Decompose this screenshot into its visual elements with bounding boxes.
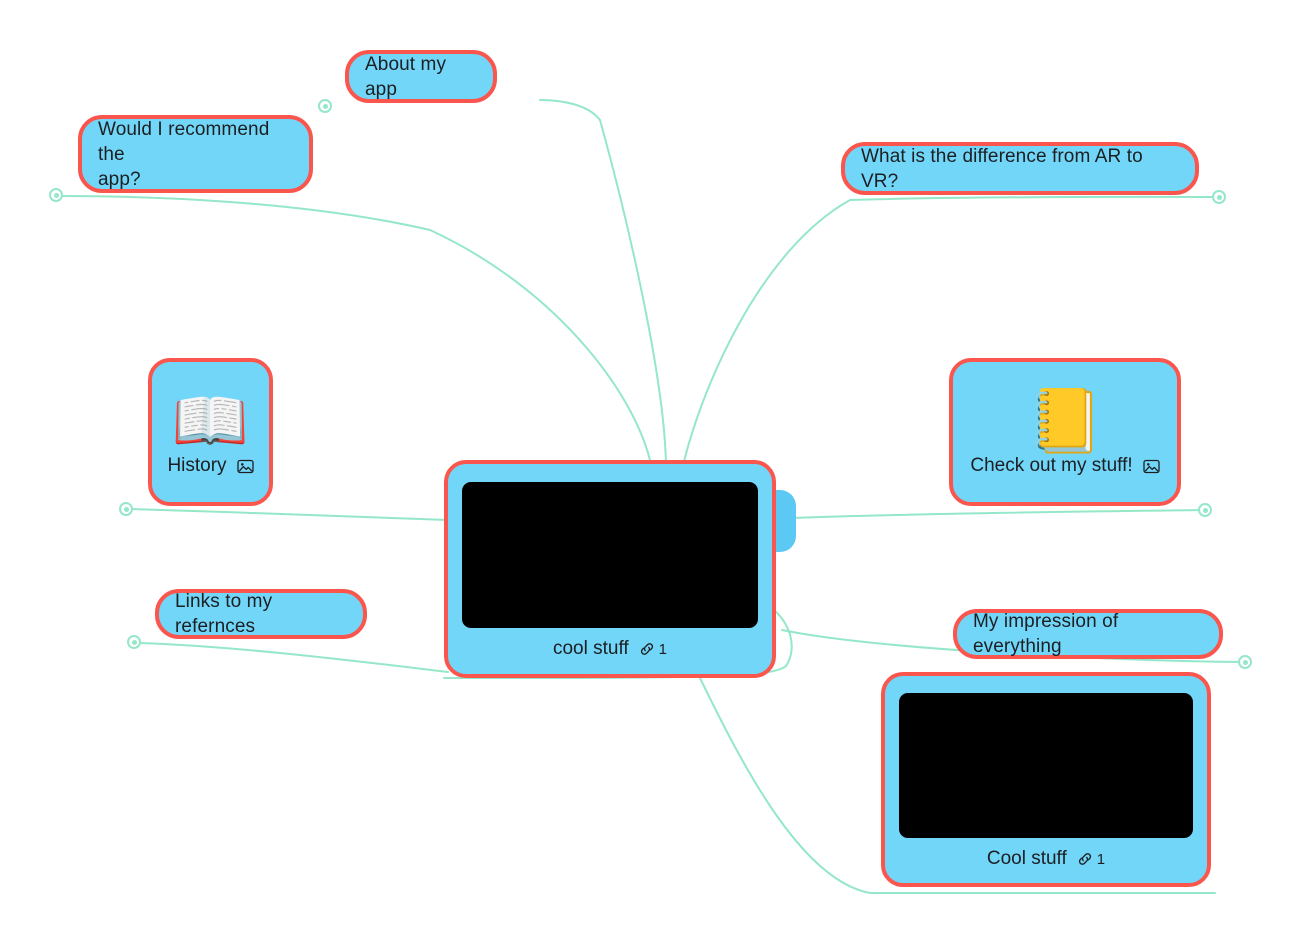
node-links-to-my-refernces[interactable]: Links to my refernces [155, 589, 367, 639]
node-ar-vr[interactable]: What is the difference from AR to VR? [841, 142, 1199, 195]
open-book-icon: 📖 [172, 389, 249, 455]
node-footer: Cool stuff 1 [899, 838, 1193, 872]
node-my-impression[interactable]: My impression of everything [953, 609, 1223, 659]
link-icon [639, 641, 655, 657]
video-thumbnail[interactable] [462, 482, 758, 628]
node-cool-stuff-media[interactable]: Cool stuff 1 [881, 672, 1211, 887]
node-center-cool-stuff[interactable]: cool stuff 1 [444, 460, 776, 678]
node-would-i-recommend[interactable]: Would I recommend the app? [78, 115, 313, 193]
link-count: 1 [1097, 851, 1105, 868]
link-badge: 1 [639, 641, 667, 658]
handle-check-out-my-stuff[interactable] [1198, 503, 1212, 517]
node-label: What is the difference from AR to VR? [861, 144, 1179, 194]
node-label: Cool stuff [987, 848, 1067, 870]
node-footer: Check out my stuff! [970, 455, 1159, 477]
handle-about-my-app[interactable] [318, 99, 332, 113]
node-label: My impression of everything [973, 609, 1203, 659]
node-label: Links to my refernces [175, 589, 347, 639]
node-label: cool stuff [553, 638, 629, 660]
address-book-icon: 📒 [1026, 389, 1103, 455]
link-icon [1077, 851, 1093, 867]
node-label: Would I recommend the app? [98, 117, 293, 192]
node-label: Check out my stuff! [970, 455, 1132, 477]
handle-would-i-recommend[interactable] [49, 188, 63, 202]
connector-history [130, 509, 448, 520]
connector-check-out-my-stuff [792, 510, 1206, 518]
node-footer: History [167, 455, 253, 477]
node-history[interactable]: 📖 History [148, 358, 273, 506]
connector-links [138, 643, 448, 672]
node-about-my-app[interactable]: About my app [345, 50, 497, 103]
video-thumbnail[interactable] [899, 693, 1193, 838]
connector-about-my-app [540, 100, 666, 470]
handle-ar-vr[interactable] [1212, 190, 1226, 204]
image-icon [237, 459, 254, 474]
node-label: History [167, 455, 226, 477]
image-icon [1143, 459, 1160, 474]
node-label: About my app [365, 52, 477, 102]
handle-my-impression[interactable] [1238, 655, 1252, 669]
link-badge: 1 [1077, 851, 1105, 868]
mindmap-canvas[interactable]: About my app Would I recommend the app? … [0, 0, 1302, 941]
handle-links[interactable] [127, 635, 141, 649]
node-check-out-my-stuff[interactable]: 📒 Check out my stuff! [949, 358, 1181, 506]
handle-history[interactable] [119, 502, 133, 516]
link-count: 1 [659, 641, 667, 658]
node-footer: cool stuff 1 [462, 628, 758, 662]
